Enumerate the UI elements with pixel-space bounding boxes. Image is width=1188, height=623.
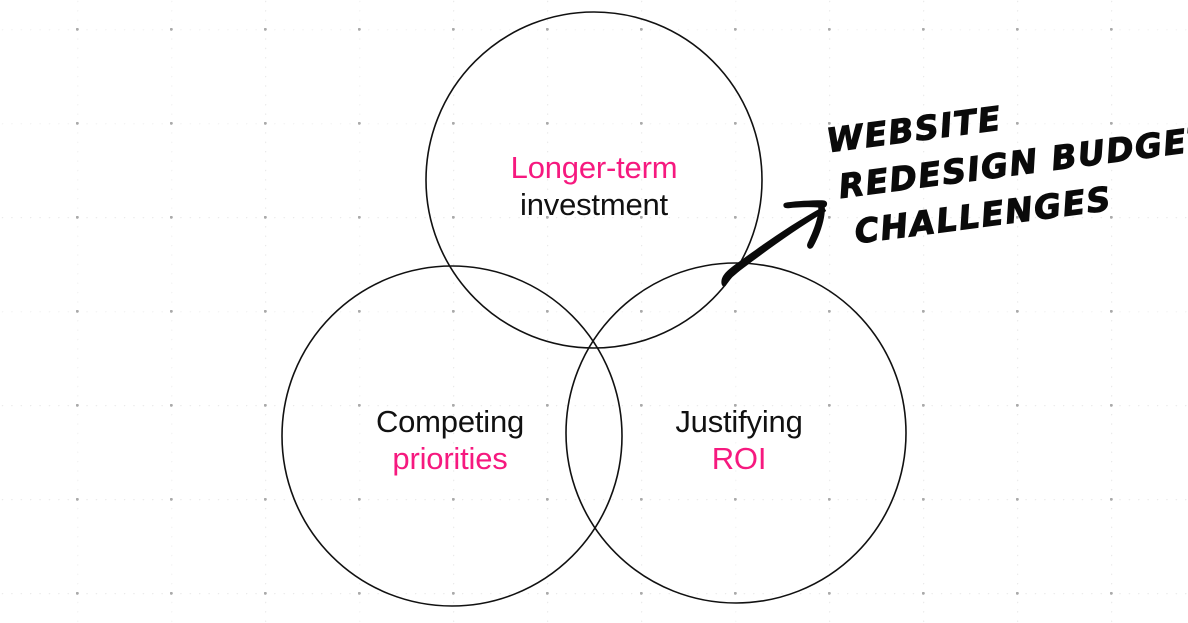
venn-diagram-canvas: Longer-term investment Competing priorit… bbox=[0, 0, 1188, 623]
venn-label-line-1: Longer-term bbox=[511, 150, 678, 187]
venn-label-line-2: ROI bbox=[675, 441, 802, 478]
hand-drawn-arrow bbox=[695, 185, 845, 300]
venn-label-line-2: investment bbox=[511, 187, 678, 224]
venn-label-longer-term-investment: Longer-term investment bbox=[511, 150, 678, 223]
venn-label-line-1: Justifying bbox=[675, 404, 802, 441]
venn-label-competing-priorities: Competing priorities bbox=[376, 404, 524, 477]
venn-label-line-1: Competing bbox=[376, 404, 524, 441]
venn-label-justifying-roi: Justifying ROI bbox=[675, 404, 802, 477]
arrow-head-lower-barb bbox=[807, 202, 825, 249]
venn-label-line-2: priorities bbox=[376, 441, 524, 478]
